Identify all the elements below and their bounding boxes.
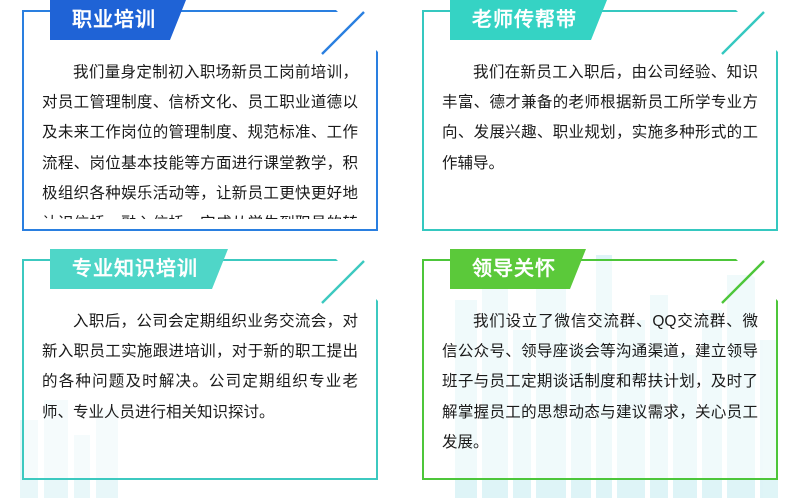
card-title-4: 领导关怀: [472, 258, 556, 280]
four-panel-grid: 职业培训 我们量身定制初入职场新员工岗前培训，对员工管理制度、信桥文化、员工职业…: [0, 0, 800, 498]
card-body-3: 入职后，公司会定期组织业务交流会，对新入职员工实施跟进培训，对于新的职工提出的各…: [42, 307, 358, 468]
card-title-2: 老师传帮带: [472, 9, 577, 31]
corner-notch-line-icon: [319, 258, 379, 318]
title-accent-shape-1: [178, 0, 204, 40]
card-body-2: 我们在新员工入职后，由公司经验、知识丰富、德才兼备的老师根据新员工所学专业方向、…: [442, 58, 758, 219]
card-title-badge-4: 领导关怀: [450, 249, 586, 289]
card-mentor-program[interactable]: 老师传帮带 我们在新员工入职后，由公司经验、知识丰富、德才兼备的老师根据新员工所…: [422, 10, 778, 231]
card-professional-knowledge-training[interactable]: 专业知识培训 入职后，公司会定期组织业务交流会，对新入职员工实施跟进培训，对于新…: [22, 259, 378, 480]
title-accent-shape-4: [578, 249, 604, 289]
card-title-1: 职业培训: [72, 9, 156, 31]
corner-notch-line-icon: [319, 9, 379, 69]
card-body-4: 我们设立了微信交流群、QQ交流群、微信公众号、领导座谈会等沟通渠道，建立领导班子…: [442, 307, 758, 468]
card-title-badge-1: 职业培训: [50, 0, 186, 40]
title-accent-shape-3: [220, 249, 246, 289]
panel-cell-4: 领导关怀 我们设立了微信交流群、QQ交流群、微信公众号、领导座谈会等沟通渠道，建…: [400, 249, 800, 498]
card-title-badge-2: 老师传帮带: [450, 0, 607, 40]
title-accent-shape-2: [599, 0, 625, 40]
card-title-3: 专业知识培训: [72, 258, 198, 280]
corner-notch-line-icon: [719, 258, 779, 318]
card-title-wrap-4: 领导关怀: [450, 249, 586, 289]
card-title-wrap-3: 专业知识培训: [50, 249, 228, 289]
card-title-wrap-2: 老师传帮带: [450, 0, 607, 40]
card-title-wrap-1: 职业培训: [50, 0, 186, 40]
card-body-1: 我们量身定制初入职场新员工岗前培训，对员工管理制度、信桥文化、员工职业道德以及未…: [42, 58, 358, 219]
card-leadership-care[interactable]: 领导关怀 我们设立了微信交流群、QQ交流群、微信公众号、领导座谈会等沟通渠道，建…: [422, 259, 778, 480]
panel-cell-1: 职业培训 我们量身定制初入职场新员工岗前培训，对员工管理制度、信桥文化、员工职业…: [0, 0, 400, 249]
panel-cell-3: 专业知识培训 入职后，公司会定期组织业务交流会，对新入职员工实施跟进培训，对于新…: [0, 249, 400, 498]
card-vocational-training[interactable]: 职业培训 我们量身定制初入职场新员工岗前培训，对员工管理制度、信桥文化、员工职业…: [22, 10, 378, 231]
corner-notch-line-icon: [719, 9, 779, 69]
card-title-badge-3: 专业知识培训: [50, 249, 228, 289]
panel-cell-2: 老师传帮带 我们在新员工入职后，由公司经验、知识丰富、德才兼备的老师根据新员工所…: [400, 0, 800, 249]
